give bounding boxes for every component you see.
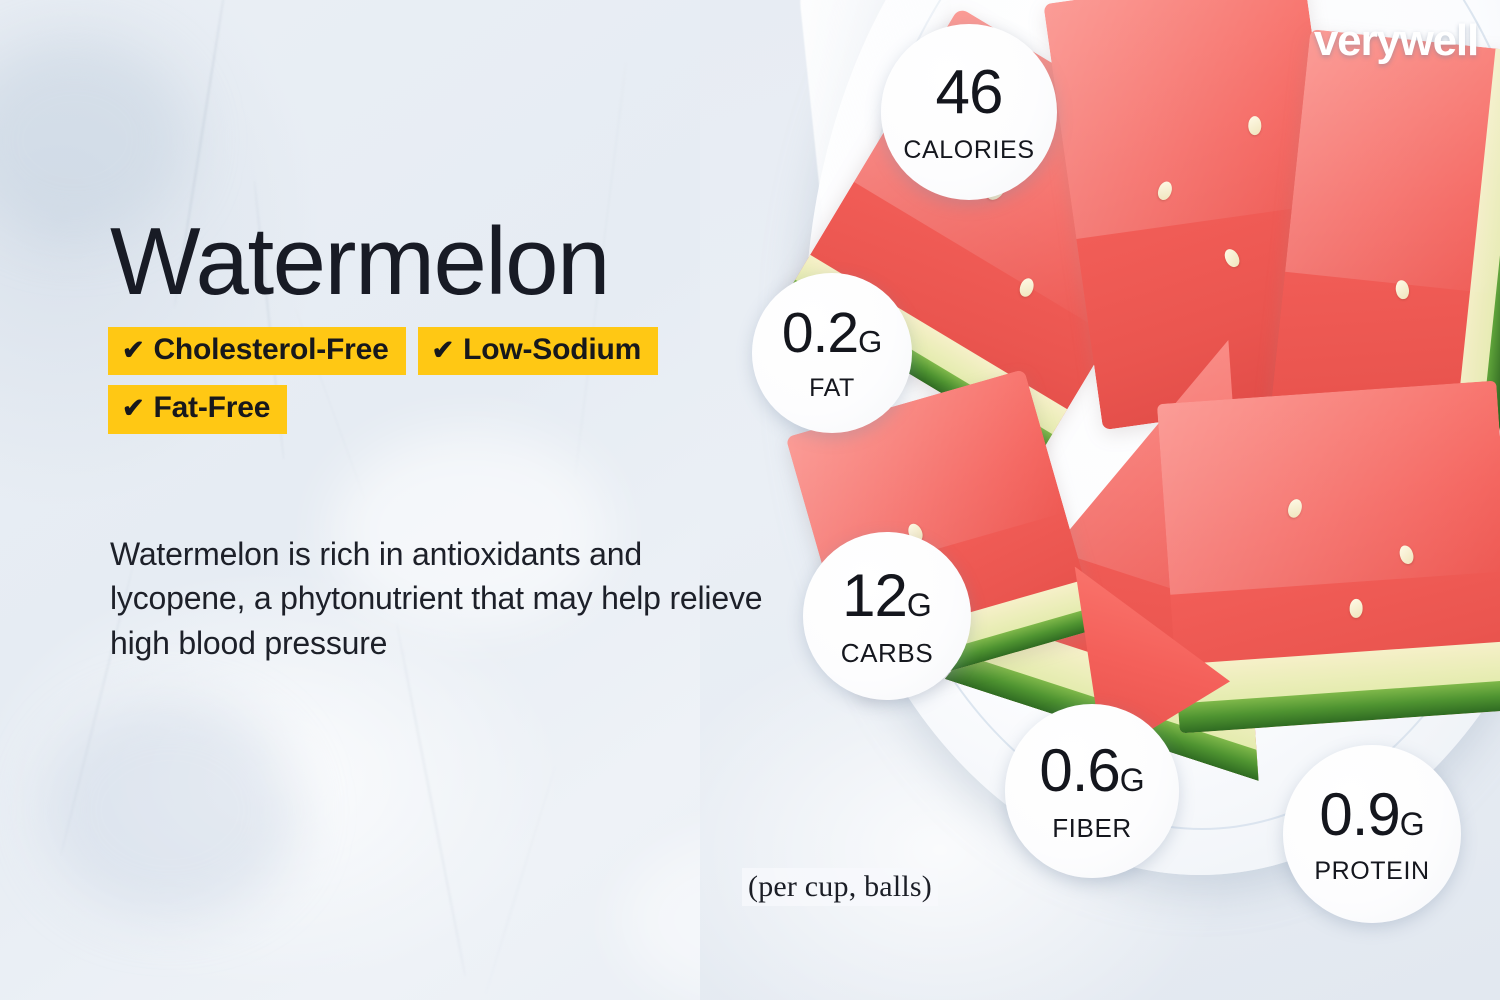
badge-content: 0.9G PROTEIN [1314, 785, 1429, 884]
benefit-tag-label: Fat-Free [153, 392, 270, 424]
benefit-tag-label: Cholesterol-Free [153, 334, 388, 366]
badge-number: 0.6 [1039, 741, 1119, 801]
badge-content: 12G CARBS [841, 566, 934, 666]
nutrition-badge-fiber: 0.6G FIBER [1005, 704, 1179, 878]
benefit-tag-fat-free: ✔ Fat-Free [108, 385, 287, 433]
badge-content: 0.6G FIBER [1039, 741, 1144, 841]
badge-label: PROTEIN [1314, 859, 1429, 884]
watermelon-seed [1248, 116, 1261, 135]
badge-number: 0.2 [782, 305, 858, 362]
page-title: Watermelon [110, 214, 609, 310]
benefit-tag-row: ✔ Cholesterol-Free ✔ Low-Sodium [108, 327, 708, 375]
badge-number: 12 [842, 566, 907, 626]
benefit-tag-cholesterol-free: ✔ Cholesterol-Free [108, 327, 406, 375]
badge-unit: G [1120, 764, 1145, 796]
badge-value: 0.2G [782, 305, 882, 362]
badge-number: 46 [936, 62, 1003, 124]
benefit-tag-low-sodium: ✔ Low-Sodium [418, 327, 658, 375]
marble-vein [396, 623, 466, 977]
nutrition-infographic: verywell Watermelon ✔ Cholesterol-Free ✔… [0, 0, 1500, 1000]
benefit-tag-row: ✔ Fat-Free [108, 385, 708, 433]
badge-value: 46 [936, 62, 1003, 124]
badge-label: CALORIES [903, 138, 1034, 163]
badge-value: 0.9G [1319, 785, 1424, 845]
check-icon: ✔ [122, 394, 144, 423]
check-icon: ✔ [432, 336, 454, 365]
badge-unit: G [1400, 808, 1425, 840]
nutrition-badge-protein: 0.9G PROTEIN [1283, 745, 1461, 923]
check-icon: ✔ [122, 336, 144, 365]
badge-unit: G [858, 326, 882, 357]
serving-size-note: (per cup, balls) [742, 868, 938, 906]
marble-vein [485, 765, 556, 995]
nutrition-badge-fat: 0.2G FAT [752, 273, 912, 433]
nutrition-badge-carbs: 12G CARBS [803, 532, 971, 700]
badge-unit: G [907, 589, 932, 621]
nutrition-badge-calories: 46 CALORIES [881, 24, 1057, 200]
marble-shade [40, 700, 300, 920]
badge-label: FAT [809, 376, 855, 401]
badge-label: FIBER [1052, 815, 1132, 841]
badge-number: 0.9 [1319, 785, 1399, 845]
verywell-logo[interactable]: verywell [1314, 16, 1478, 66]
benefit-tag-list: ✔ Cholesterol-Free ✔ Low-Sodium ✔ Fat-Fr… [108, 327, 708, 444]
description-text: Watermelon is rich in antioxidants and l… [110, 532, 770, 665]
benefit-tag-label: Low-Sodium [463, 334, 641, 366]
badge-content: 46 CALORIES [903, 62, 1034, 163]
badge-value: 0.6G [1039, 741, 1144, 801]
badge-label: CARBS [841, 640, 934, 666]
badge-value: 12G [842, 566, 932, 626]
badge-content: 0.2G FAT [782, 305, 882, 401]
